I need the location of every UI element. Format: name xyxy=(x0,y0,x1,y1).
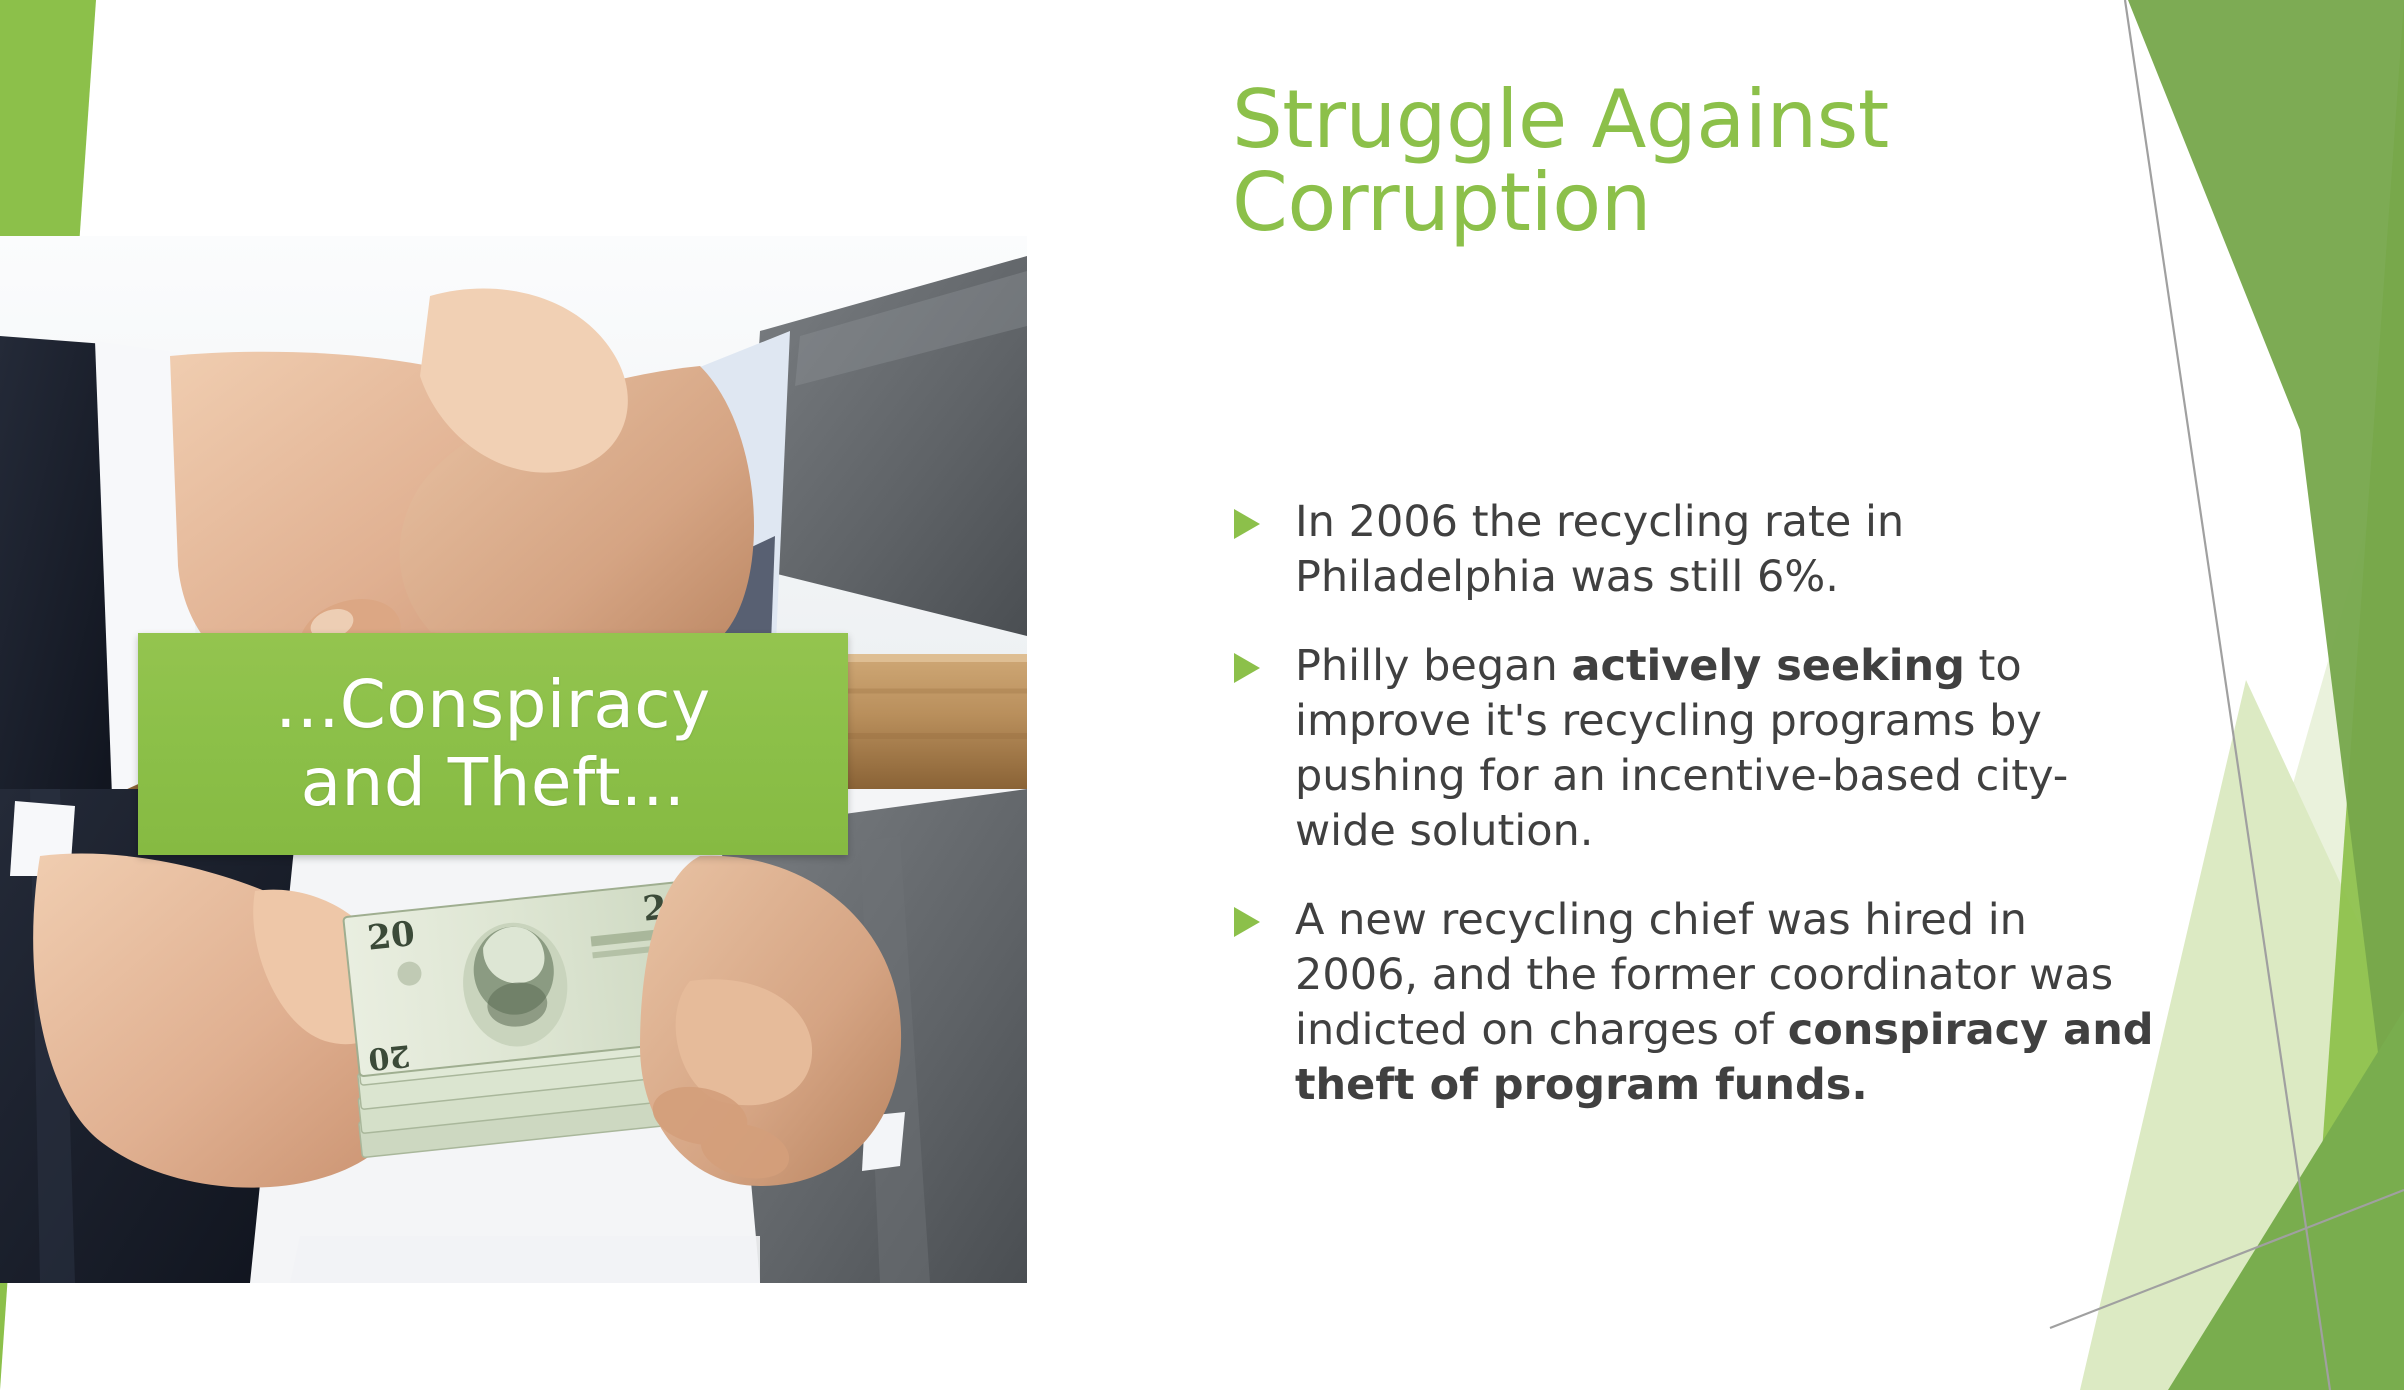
page-title: Struggle Against Corruption xyxy=(1232,78,2152,244)
caption-box: ...Conspiracy and Theft... xyxy=(138,633,848,855)
caption-line-2: and Theft... xyxy=(301,744,686,821)
mid-green-triangle xyxy=(2305,0,2404,1390)
very-pale-green-triangle xyxy=(2120,395,2404,1390)
thin-gray-cross-line xyxy=(2050,1190,2404,1328)
caption-line-1: ...Conspiracy xyxy=(275,666,710,743)
triangle-right-icon xyxy=(1232,651,1262,685)
svg-text:20: 20 xyxy=(367,1037,412,1076)
list-item-text: In 2006 the recycling rate in Philadelph… xyxy=(1295,495,2162,605)
dark-green-lower-triangle xyxy=(2168,1010,2404,1390)
list-item: In 2006 the recycling rate in Philadelph… xyxy=(1232,495,2162,605)
svg-text:20: 20 xyxy=(366,914,417,959)
caption-text: ...Conspiracy and Theft... xyxy=(263,666,722,822)
triangle-right-icon xyxy=(1232,507,1262,541)
triangle-right-icon xyxy=(1232,905,1262,939)
slide-content-column: Struggle Against Corruption xyxy=(1232,78,2152,244)
list-item: A new recycling chief was hired in 2006,… xyxy=(1232,893,2162,1113)
bullet-list: In 2006 the recycling rate in Philadelph… xyxy=(1232,495,2162,1147)
list-item-text: A new recycling chief was hired in 2006,… xyxy=(1295,893,2162,1113)
list-item: Philly began actively seeking to improve… xyxy=(1232,639,2162,859)
dark-green-triangle xyxy=(2128,0,2404,1260)
list-item-text: Philly began actively seeking to improve… xyxy=(1295,639,2162,859)
presentation-slide: 20 20 20 ...Conspirac xyxy=(0,0,2404,1390)
